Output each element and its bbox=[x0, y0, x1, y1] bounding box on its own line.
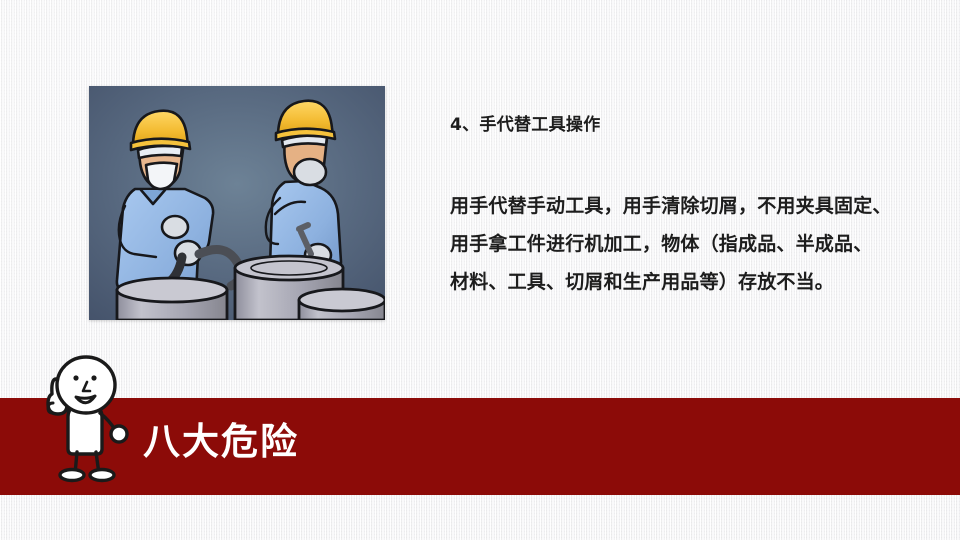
content-text-column: 4、手代替工具操作 用手代替手动工具，用手清除切屑，不用夹具固定、 用手拿工件进… bbox=[450, 110, 920, 301]
body-line-2: 用手拿工件进行机加工，物体（指成品、半成品、 bbox=[450, 225, 920, 263]
mascot-pointing-figure bbox=[30, 355, 148, 483]
section-heading: 4、手代替工具操作 bbox=[450, 110, 920, 135]
safety-illustration-graphic bbox=[89, 86, 385, 320]
body-paragraph: 用手代替手动工具，用手清除切屑，不用夹具固定、 用手拿工件进行机加工，物体（指成… bbox=[450, 187, 920, 301]
safety-illustration bbox=[89, 86, 385, 320]
banner-title: 八大危险 bbox=[143, 420, 299, 464]
slide-root: 4、手代替工具操作 用手代替手动工具，用手清除切屑，不用夹具固定、 用手拿工件进… bbox=[0, 0, 960, 540]
body-line-3: 材料、工具、切屑和生产用品等）存放不当。 bbox=[450, 263, 920, 301]
mascot-graphic bbox=[30, 355, 148, 483]
body-line-1: 用手代替手动工具，用手清除切屑，不用夹具固定、 bbox=[450, 187, 920, 225]
